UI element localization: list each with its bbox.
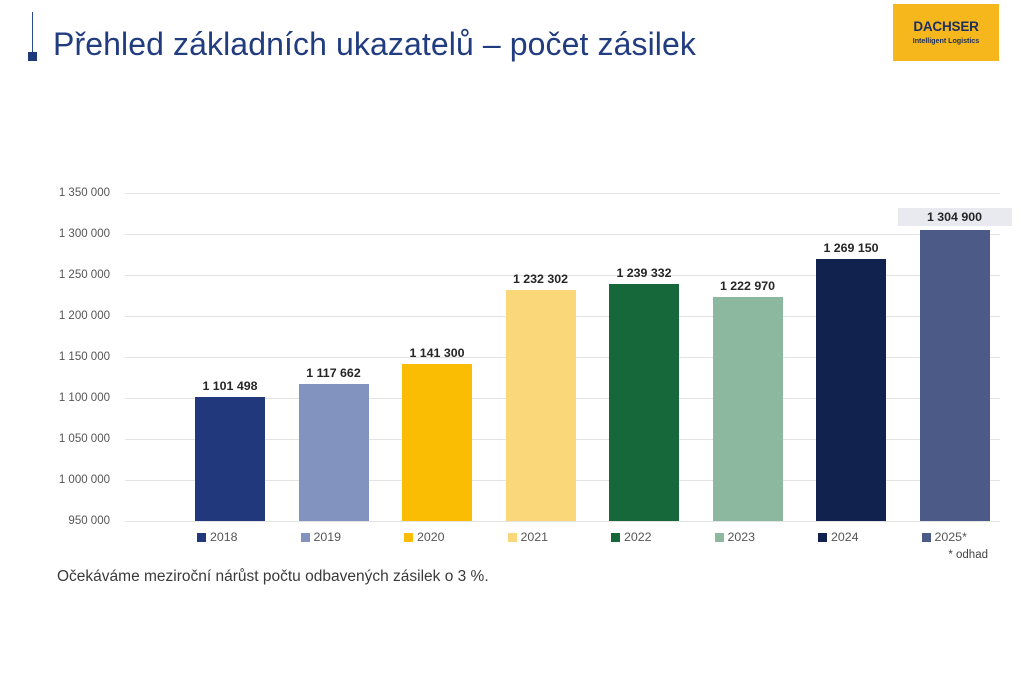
- bar-group[interactable]: 1 304 900: [920, 193, 990, 521]
- title-marker-dot: [28, 52, 37, 61]
- bar-2018[interactable]: [195, 397, 265, 521]
- bar-value-label: 1 269 150: [794, 241, 908, 255]
- estimate-footnote: * odhad: [948, 549, 988, 561]
- legend-label: 2025*: [935, 530, 967, 544]
- legend-item-2020[interactable]: 2020: [404, 526, 445, 548]
- dachser-logo: DACHSER Intelligent Logistics: [893, 4, 999, 61]
- legend-item-2024[interactable]: 2024: [818, 526, 859, 548]
- legend-label: 2021: [521, 530, 549, 544]
- bar-group[interactable]: 1 232 302: [506, 193, 576, 521]
- logo-tagline: Intelligent Logistics: [893, 36, 999, 45]
- legend-item-2025-est[interactable]: 2025*: [922, 526, 967, 548]
- bar-group[interactable]: 1 117 662: [299, 193, 369, 521]
- bar-group[interactable]: 1 269 150: [816, 193, 886, 521]
- y-axis-tick-label: 950 000: [68, 515, 110, 527]
- bar-value-label: 1 304 900: [898, 208, 1012, 226]
- bars-layer: 1 101 4981 117 6621 141 3001 232 3021 23…: [125, 193, 1000, 521]
- bar-group[interactable]: 1 141 300: [402, 193, 472, 521]
- legend-label: 2024: [831, 530, 859, 544]
- bar-2025-est[interactable]: [920, 230, 990, 521]
- title-marker-stem: [32, 12, 33, 52]
- y-axis-tick-label: 1 250 000: [59, 269, 110, 281]
- legend-label: 2023: [728, 530, 756, 544]
- legend-swatch-icon: [197, 533, 206, 542]
- bar-group[interactable]: 1 101 498: [195, 193, 265, 521]
- bar-2019[interactable]: [299, 384, 369, 521]
- bar-value-label: 1 239 332: [587, 266, 701, 280]
- y-axis-tick-label: 1 200 000: [59, 310, 110, 322]
- summary-text: Očekáváme meziroční nárůst počtu odbaven…: [57, 568, 489, 586]
- bar-value-label: 1 101 498: [173, 379, 287, 393]
- bar-2020[interactable]: [402, 364, 472, 521]
- bar-value-label: 1 117 662: [277, 366, 391, 380]
- legend-item-2018[interactable]: 2018: [197, 526, 238, 548]
- y-axis-tick-label: 1 000 000: [59, 474, 110, 486]
- legend-swatch-icon: [508, 533, 517, 542]
- legend-swatch-icon: [611, 533, 620, 542]
- bar-value-label: 1 232 302: [484, 272, 598, 286]
- legend-swatch-icon: [404, 533, 413, 542]
- legend-swatch-icon: [301, 533, 310, 542]
- chart-legend: 20182019202020212022202320242025*: [125, 526, 1000, 548]
- gridline: [125, 521, 1000, 522]
- legend-label: 2022: [624, 530, 652, 544]
- y-axis: 1 350 0001 300 0001 250 0001 200 0001 15…: [0, 193, 118, 521]
- legend-item-2019[interactable]: 2019: [301, 526, 342, 548]
- bar-2021[interactable]: [506, 290, 576, 521]
- slide-header: Přehled základních ukazatelů – počet zás…: [0, 0, 1024, 80]
- bar-value-label: 1 141 300: [380, 346, 494, 360]
- y-axis-tick-label: 1 350 000: [59, 187, 110, 199]
- legend-label: 2020: [417, 530, 445, 544]
- bar-2023[interactable]: [713, 297, 783, 521]
- legend-swatch-icon: [818, 533, 827, 542]
- title-marker-icon: [28, 12, 37, 62]
- legend-swatch-icon: [922, 533, 931, 542]
- y-axis-tick-label: 1 300 000: [59, 228, 110, 240]
- bar-2024[interactable]: [816, 259, 886, 521]
- y-axis-tick-label: 1 150 000: [59, 351, 110, 363]
- logo-brand-name: DACHSER: [893, 19, 999, 34]
- legend-label: 2018: [210, 530, 238, 544]
- legend-item-2023[interactable]: 2023: [715, 526, 756, 548]
- legend-swatch-icon: [715, 533, 724, 542]
- legend-label: 2019: [314, 530, 342, 544]
- y-axis-tick-label: 1 100 000: [59, 392, 110, 404]
- y-axis-tick-label: 1 050 000: [59, 433, 110, 445]
- shipments-bar-chart: 1 350 0001 300 0001 250 0001 200 0001 15…: [0, 170, 1024, 550]
- bar-value-label: 1 222 970: [691, 279, 805, 293]
- page-title: Přehled základních ukazatelů – počet zás…: [53, 24, 696, 64]
- bar-2022[interactable]: [609, 284, 679, 521]
- bar-group[interactable]: 1 239 332: [609, 193, 679, 521]
- legend-item-2021[interactable]: 2021: [508, 526, 549, 548]
- plot-area: 1 101 4981 117 6621 141 3001 232 3021 23…: [125, 193, 1000, 521]
- bar-group[interactable]: 1 222 970: [713, 193, 783, 521]
- legend-item-2022[interactable]: 2022: [611, 526, 652, 548]
